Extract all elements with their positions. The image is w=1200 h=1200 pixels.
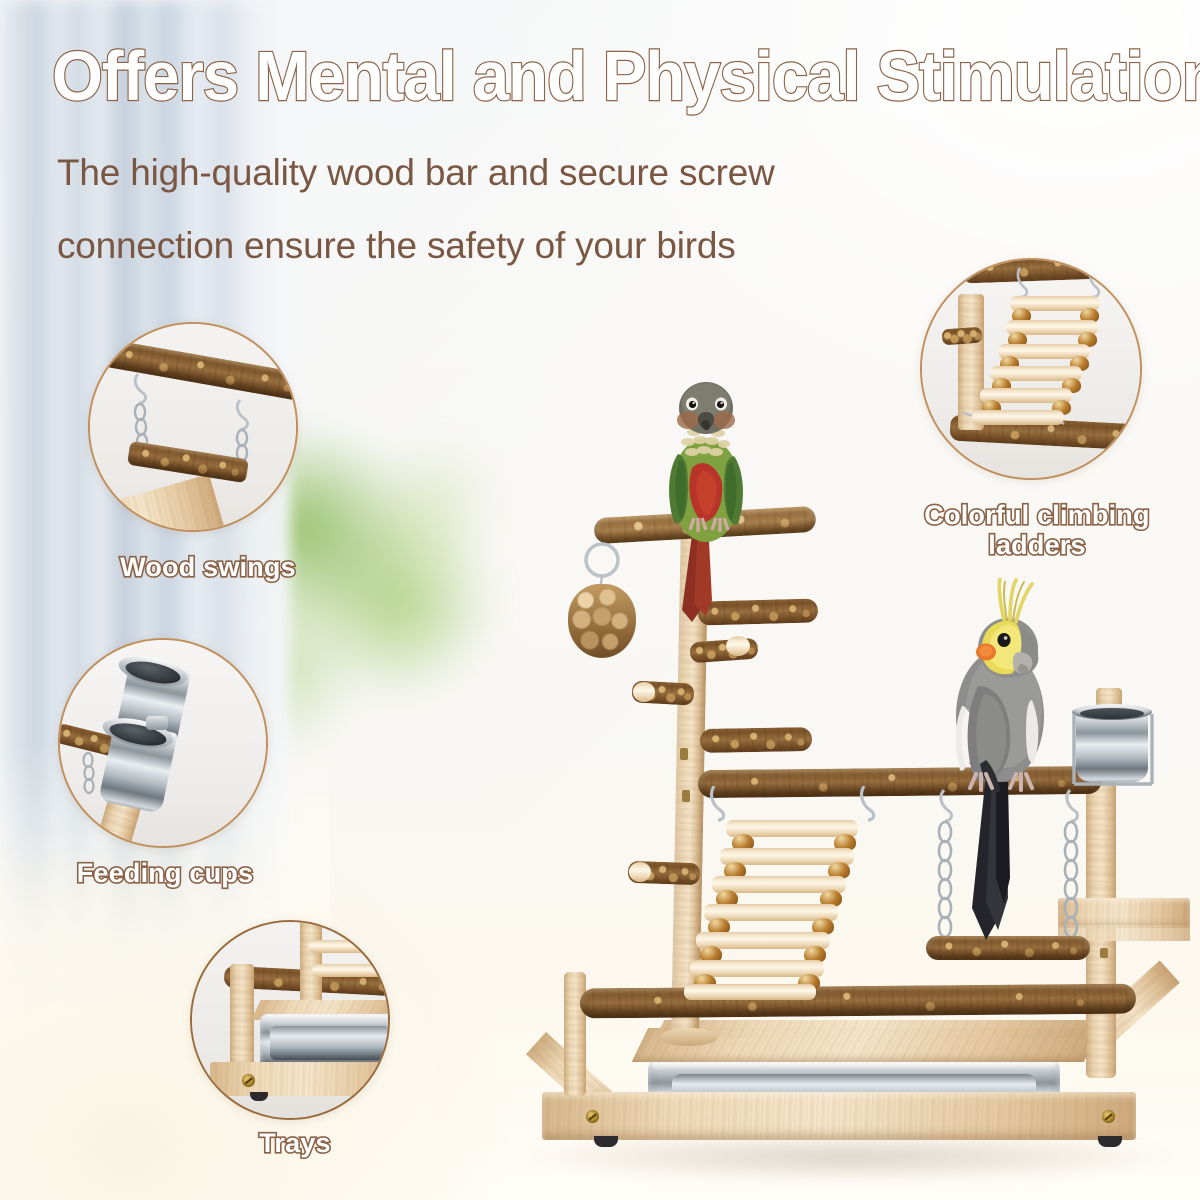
branch-peg-1-cut-end: [726, 636, 750, 656]
callout-trays-photo: [192, 922, 388, 1118]
product-shadow: [520, 1140, 1180, 1182]
ladders-bubble-rung: [972, 410, 1064, 425]
callout-wood-swings: [88, 322, 298, 532]
base-screw-right: [1102, 1110, 1115, 1123]
center-post-screw-upper: [680, 748, 688, 760]
conure-svg: [636, 372, 776, 622]
base-foot-right: [1098, 1136, 1122, 1147]
pinecone-toy: [556, 540, 648, 660]
climbing-ladder: [694, 798, 924, 998]
cups-bubble-clamp: [146, 716, 168, 730]
callout-feeding-cups-photo: [60, 640, 266, 846]
trays-bubble-foot: [250, 1092, 268, 1101]
callout-label-wood-swings: Wood swings: [58, 552, 358, 582]
callout-trays: [190, 920, 390, 1120]
cockatiel-svg: [900, 578, 1090, 998]
branch-peg-3-cut-end: [629, 862, 651, 882]
callout-label-climbing-ladders: Colorful climbing ladders: [892, 500, 1182, 560]
callout-label-climbing-ladders-line1: Colorful climbing: [892, 500, 1182, 530]
callout-climbing-ladders-photo: [922, 260, 1140, 478]
bird-playstand-product: [0, 0, 1200, 1200]
trays-bubble-ladder-rung: [308, 940, 388, 953]
base-screw-left: [586, 1110, 599, 1123]
callout-label-climbing-ladders-line2: ladders: [892, 530, 1182, 560]
branch-peg-2-cut-end: [633, 682, 655, 702]
pinecone-body: [568, 584, 636, 658]
center-post-base-collar: [660, 1028, 718, 1046]
callout-label-feeding-cups: Feeding cups: [20, 858, 310, 888]
callout-feeding-cups: [58, 638, 268, 848]
base-frame-top-plate: [656, 1020, 1095, 1038]
trays-bubble-tray-reflection: [270, 1026, 388, 1060]
bird-conure: [636, 372, 776, 622]
ladder-rung: [684, 984, 816, 1000]
base-foot-left: [594, 1136, 618, 1147]
trays-bubble-center-post: [300, 922, 322, 1004]
bird-cockatiel: [900, 578, 1090, 998]
base-frame-front-rail: [542, 1092, 1136, 1140]
trays-bubble-base-rail: [210, 1062, 388, 1096]
callout-climbing-ladders: [920, 258, 1142, 480]
swing-bubble-chains-svg: [90, 324, 296, 530]
center-post-screw-lower: [682, 790, 690, 802]
callout-label-trays: Trays: [200, 1128, 390, 1158]
trays-bubble-ladder-rung: [312, 964, 388, 977]
trays-bubble-screw: [242, 1074, 255, 1087]
mid-right-perch-branch: [700, 727, 812, 753]
left-corner-post: [564, 972, 586, 1096]
callout-wood-swings-photo: [90, 324, 296, 530]
trays-bubble-left-post: [230, 964, 254, 1070]
product-feature-image: Offers Mental and Physical Stimulation T…: [0, 0, 1200, 1200]
